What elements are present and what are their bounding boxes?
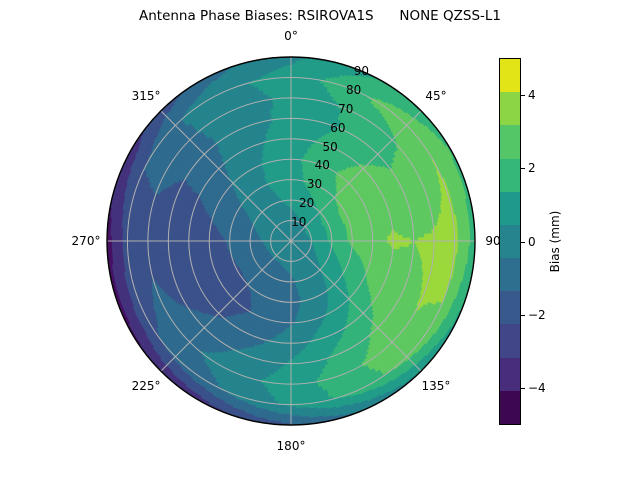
azimuth-tick-label: 180° [277,439,306,453]
colorbar-gradient [499,58,521,425]
colorbar-band [500,324,520,358]
colorbar-tick-label: 4 [528,88,536,102]
azimuth-tick-label: 0° [284,29,298,43]
colorbar-band [500,391,520,425]
zenith-tick-label: 50 [322,140,337,154]
azimuth-tick-label: 225° [132,379,161,393]
colorbar-band [500,258,520,292]
zenith-tick-label: 10 [291,215,306,229]
colorbar-band [500,225,520,259]
colorbar-band [500,159,520,193]
colorbar-axis-label: Bias (mm) [544,58,566,425]
zenith-tick-label: 70 [338,102,353,116]
colorbar: 420−2−4 [499,58,521,425]
colorbar-band [500,125,520,159]
zenith-tick-label: 20 [299,196,314,210]
colorbar-band [500,358,520,392]
zenith-tick-label: 60 [330,121,345,135]
zenith-tick-label: 90 [354,64,369,78]
azimuth-tick-label: 315° [132,89,161,103]
zenith-tick-label: 30 [307,177,322,191]
colorbar-tick-mark [521,315,525,316]
azimuth-tick-label: 135° [422,379,451,393]
colorbar-band [500,92,520,126]
zenith-tick-label: 40 [315,158,330,172]
polar-grid-layer [107,57,475,425]
colorbar-tick-label: 0 [528,235,536,249]
zenith-tick-label: 80 [346,83,361,97]
azimuth-tick-label: 270° [72,234,101,248]
colorbar-tick-mark [521,388,525,389]
colorbar-tick-mark [521,242,525,243]
colorbar-tick-label: 2 [528,161,536,175]
colorbar-band [500,291,520,325]
colorbar-tick-mark [521,168,525,169]
colorbar-band [500,59,520,93]
colorbar-band [500,192,520,226]
azimuth-tick-label: 45° [425,89,446,103]
figure-canvas: Antenna Phase Biases: RSIROVA1S NONE QZS… [0,0,640,480]
colorbar-tick-mark [521,95,525,96]
